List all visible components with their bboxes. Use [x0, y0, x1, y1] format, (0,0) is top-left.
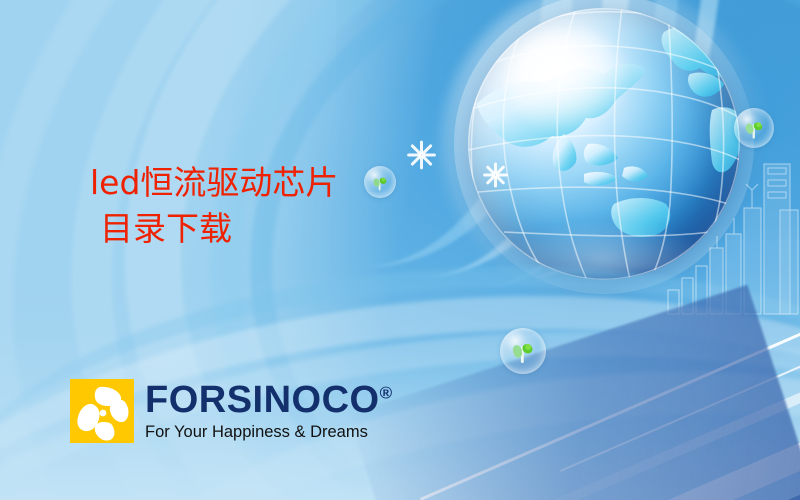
logo-text-block: FORSINOCO® For Your Happiness & Dreams: [145, 379, 392, 441]
logo-tagline: For Your Happiness & Dreams: [145, 424, 392, 441]
bubble-sprout-icon: [500, 328, 546, 374]
headline-line-2: 目录下载: [72, 206, 432, 252]
four-petal-pinwheel-icon: [70, 379, 134, 443]
headline-text: led恒流驱动芯片 目录下载: [72, 160, 432, 251]
pinwheel-svg: [70, 379, 134, 443]
headline-line-1: led恒流驱动芯片: [72, 160, 432, 206]
sprout-icon: [510, 338, 536, 364]
starburst-icon: [482, 162, 508, 188]
company-logo[interactable]: FORSINOCO® For Your Happiness & Dreams: [70, 379, 392, 443]
bubble-sprout-icon: [734, 108, 774, 148]
banner-canvas: led恒流驱动芯片 目录下载 FORSINOCO® For Your Happi…: [0, 0, 800, 500]
registered-trademark-icon: ®: [380, 383, 393, 402]
sprout-icon: [743, 117, 765, 139]
logo-wordmark-text: FORSINOCO: [145, 379, 380, 421]
logo-wordmark: FORSINOCO®: [145, 381, 392, 419]
landmass-greenland: [702, 12, 728, 25]
